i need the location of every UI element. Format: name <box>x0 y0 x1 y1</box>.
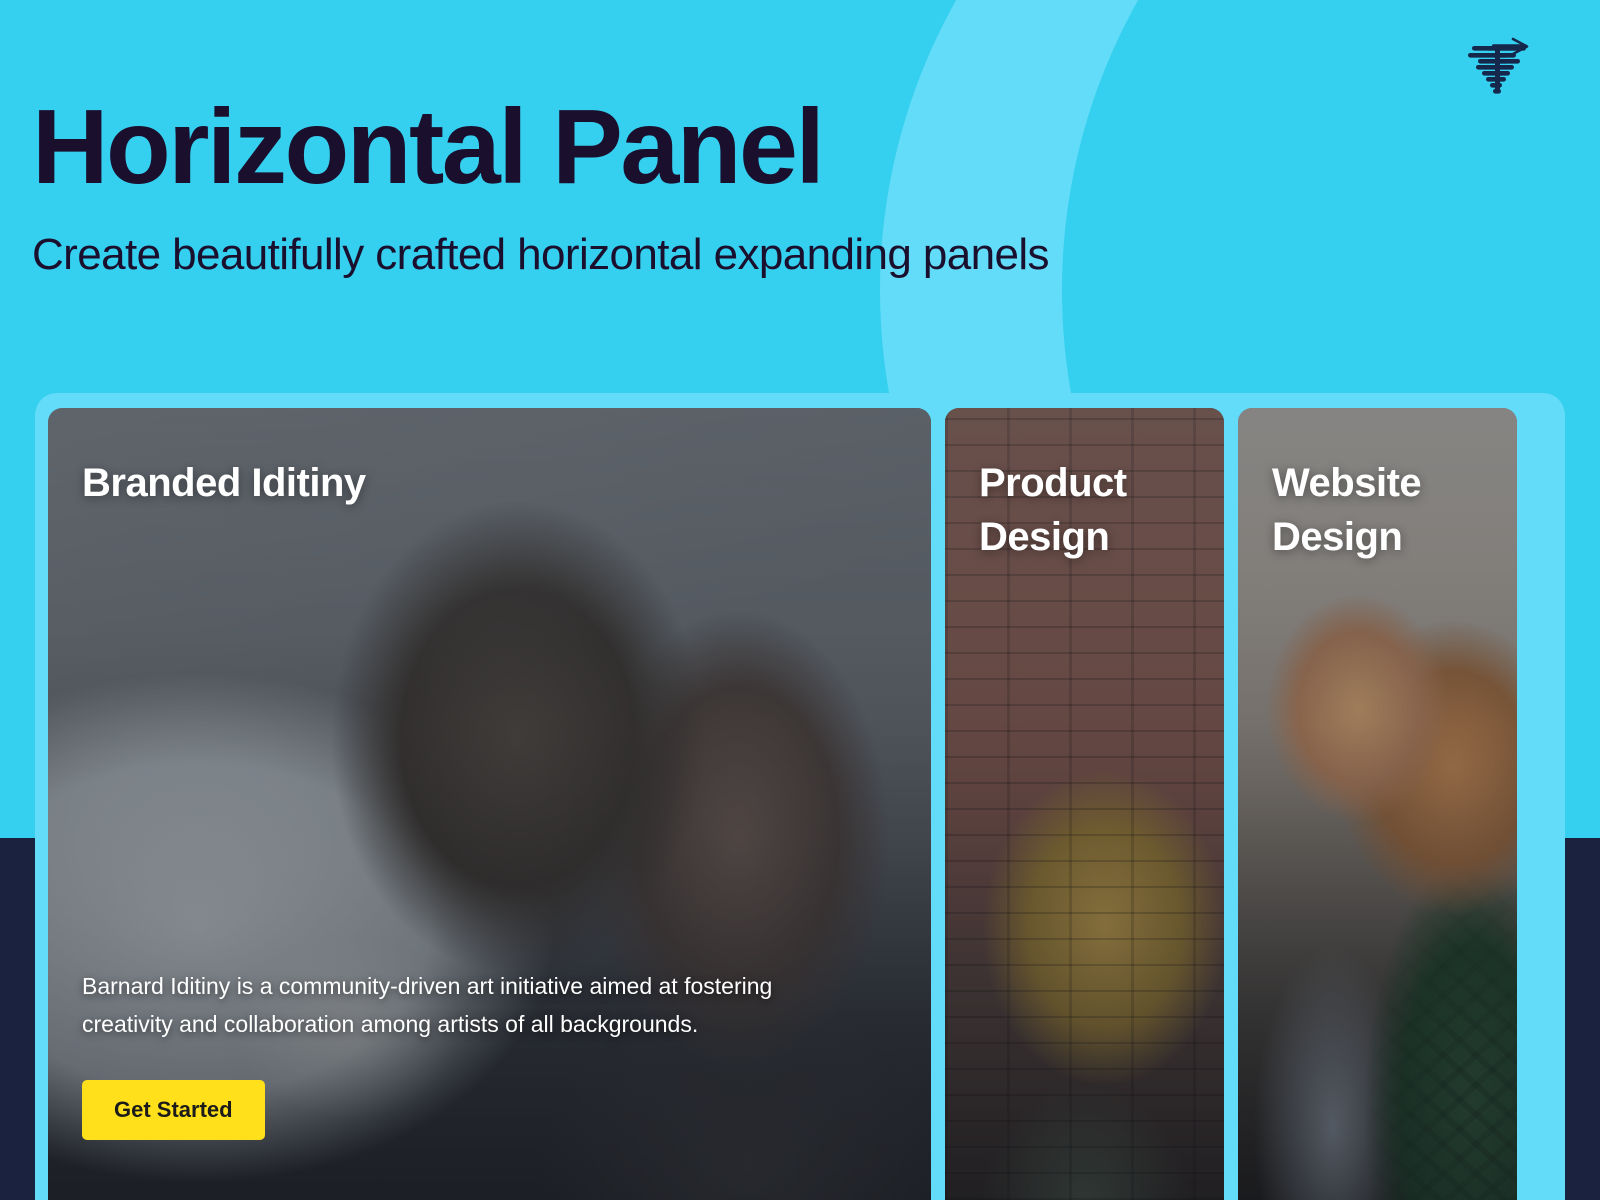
panel-title: Website Design <box>1272 456 1472 564</box>
panel-website-design[interactable]: Website Design <box>1238 408 1517 1200</box>
tornado-funnel-arrow-icon[interactable] <box>1466 34 1538 96</box>
panel-title: Branded Iditiny <box>82 456 366 510</box>
hero-text-block: Horizontal Panel Create beautifully craf… <box>32 92 1049 280</box>
get-started-button[interactable]: Get Started <box>82 1080 265 1140</box>
horizontal-panel-strip: Branded Iditiny Barnard Iditiny is a com… <box>48 408 1553 1200</box>
panel-title: Product Design <box>979 456 1179 564</box>
panel-branded-iditiny[interactable]: Branded Iditiny Barnard Iditiny is a com… <box>48 408 931 1200</box>
panel-body: Barnard Iditiny is a community-driven ar… <box>82 967 822 1140</box>
panel-description: Barnard Iditiny is a community-driven ar… <box>82 967 822 1044</box>
horizontal-panel-container: Branded Iditiny Barnard Iditiny is a com… <box>35 393 1565 1200</box>
page-subtitle: Create beautifully crafted horizontal ex… <box>32 230 1049 280</box>
page-title: Horizontal Panel <box>32 92 1049 202</box>
panel-product-design[interactable]: Product Design <box>945 408 1224 1200</box>
